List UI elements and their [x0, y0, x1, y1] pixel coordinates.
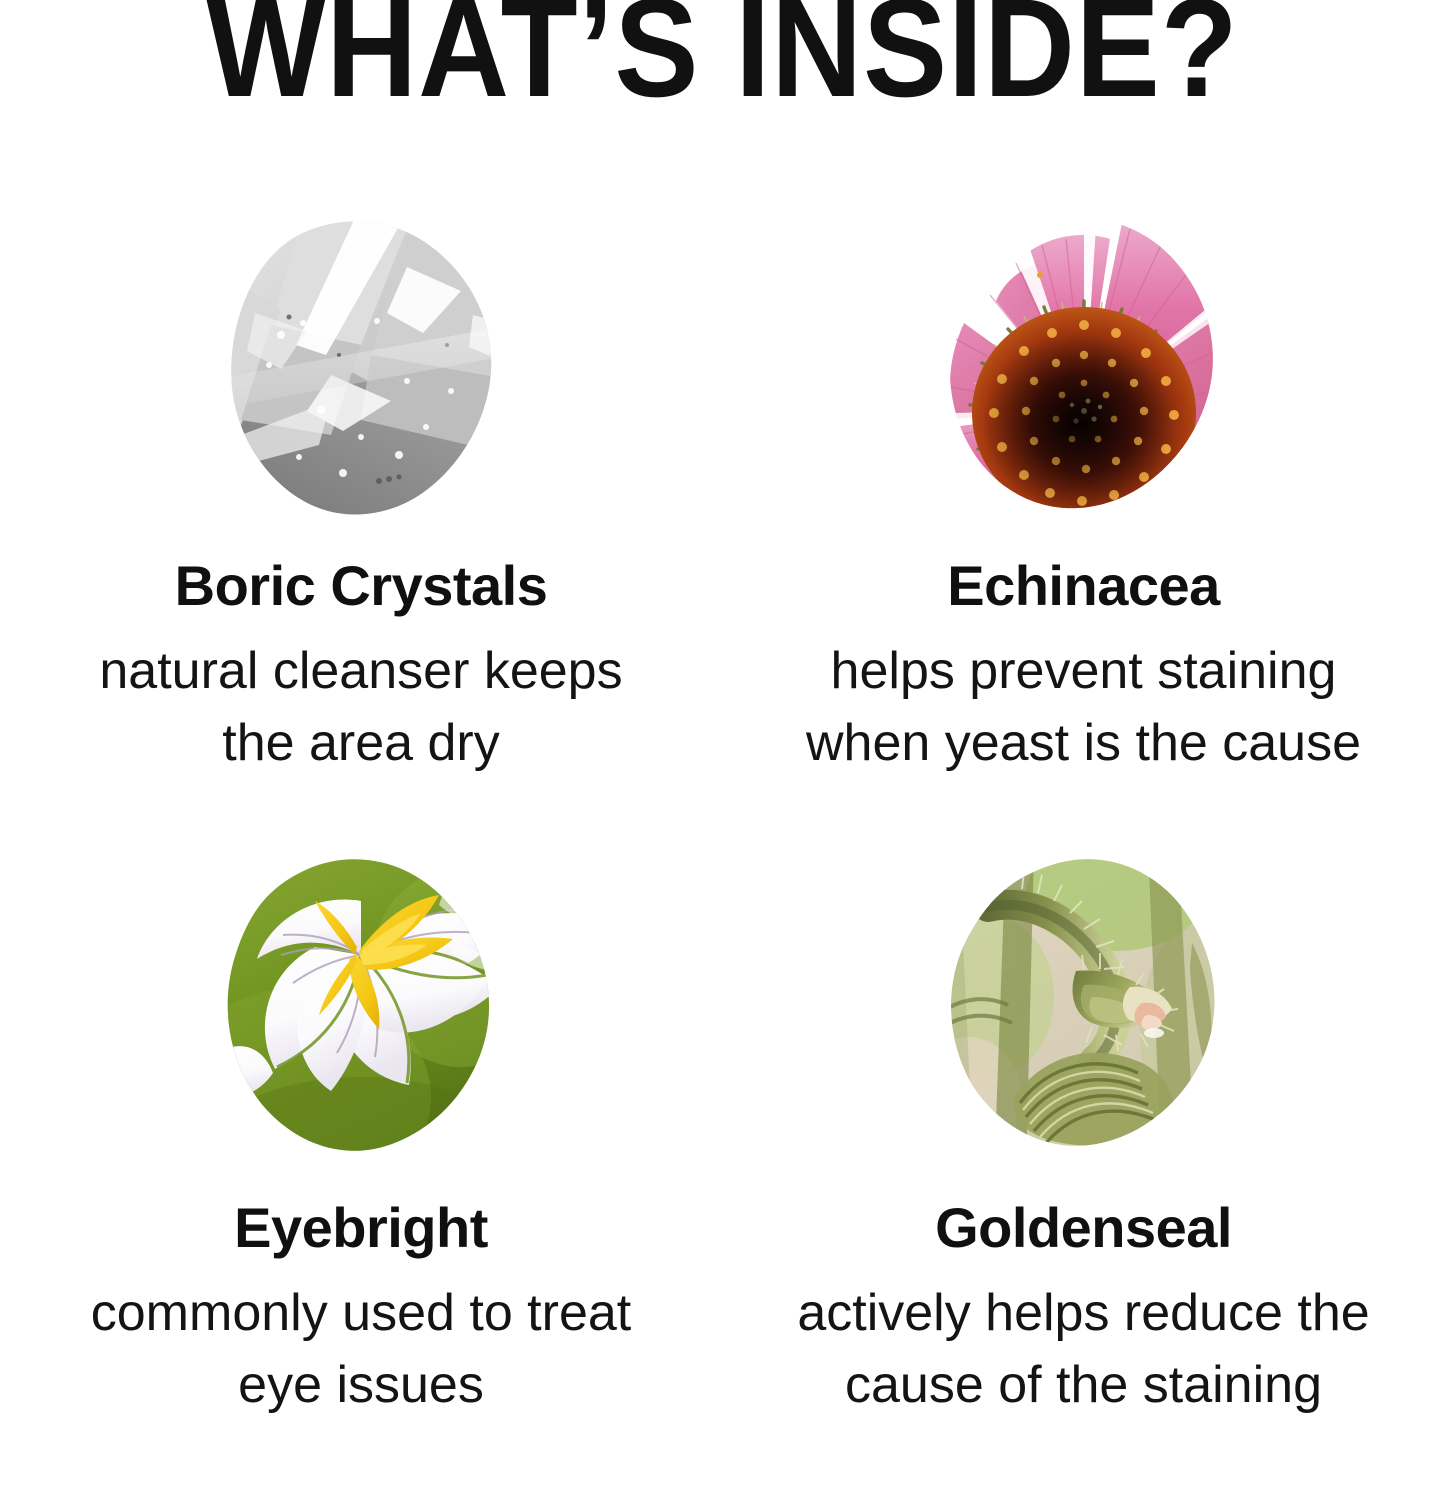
ingredient-card-eyebright: Eyebright commonly used to treat eye iss…: [0, 845, 722, 1485]
goldenseal-image-wrap: [934, 847, 1234, 1177]
boric-crystals-photo: [211, 205, 511, 535]
echinacea-flower-photo: [934, 205, 1234, 535]
desc-line-1: actively helps reduce the: [734, 1278, 1434, 1350]
desc-line-1: commonly used to treat: [11, 1278, 711, 1350]
ingredient-name-eyebright: Eyebright: [234, 1199, 488, 1258]
ingredient-desc-echinacea: helps prevent staining when yeast is the…: [734, 636, 1434, 780]
ingredient-name-echinacea: Echinacea: [947, 557, 1220, 616]
desc-line-2: cause of the staining: [734, 1350, 1434, 1422]
boric-crystals-image-wrap: [211, 205, 511, 535]
ingredient-grid: Boric Crystals natural cleanser keeps th…: [0, 205, 1445, 1485]
desc-line-2: eye issues: [11, 1350, 711, 1422]
desc-line-1: natural cleanser keeps: [11, 636, 711, 708]
page-title: WHAT’S INSIDE?: [72, 0, 1373, 118]
ingredient-card-goldenseal: Goldenseal actively helps reduce the cau…: [722, 845, 1445, 1485]
ingredient-name-boric-crystals: Boric Crystals: [175, 557, 548, 616]
echinacea-image-wrap: [934, 205, 1234, 535]
goldenseal-plant-photo: [934, 847, 1234, 1177]
ingredient-card-echinacea: Echinacea helps prevent staining when ye…: [722, 205, 1445, 845]
ingredient-desc-eyebright: commonly used to treat eye issues: [11, 1278, 711, 1422]
ingredient-name-goldenseal: Goldenseal: [935, 1199, 1232, 1258]
eyebright-image-wrap: [211, 847, 511, 1177]
eyebright-flower-photo: [211, 847, 511, 1177]
ingredient-desc-goldenseal: actively helps reduce the cause of the s…: [734, 1278, 1434, 1422]
desc-line-1: helps prevent staining: [734, 636, 1434, 708]
desc-line-2: the area dry: [11, 708, 711, 780]
desc-line-2: when yeast is the cause: [734, 708, 1434, 780]
ingredient-desc-boric-crystals: natural cleanser keeps the area dry: [11, 636, 711, 780]
ingredient-card-boric-crystals: Boric Crystals natural cleanser keeps th…: [0, 205, 722, 845]
